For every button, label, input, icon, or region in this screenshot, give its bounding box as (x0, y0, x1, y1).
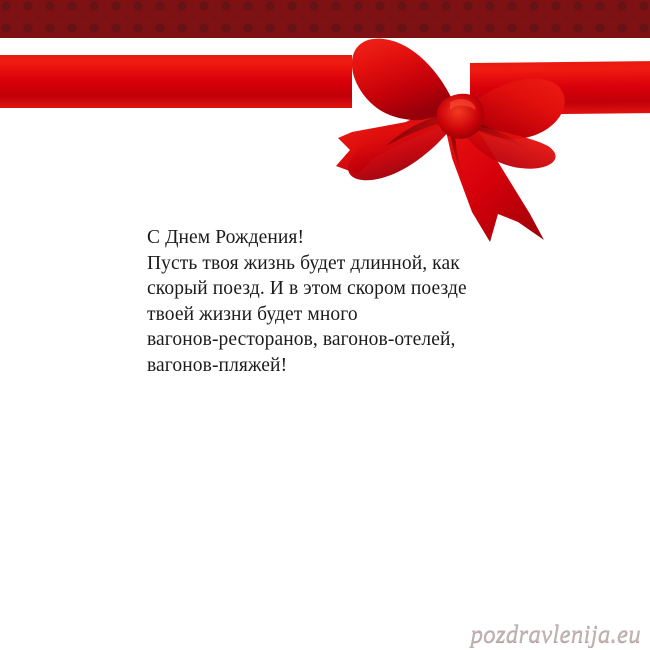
greeting-card: С Днем Рождения! Пусть твоя жизнь будет … (0, 0, 650, 650)
greeting-text: С Днем Рождения! Пусть твоя жизнь будет … (147, 225, 547, 379)
site-watermark: pozdravlenija.eu (470, 622, 641, 648)
red-satin-bow (286, 26, 576, 251)
